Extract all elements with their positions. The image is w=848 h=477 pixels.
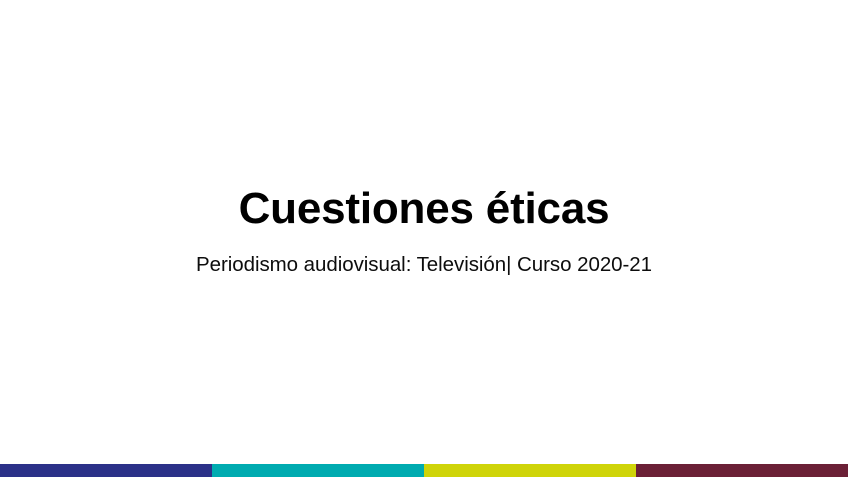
footer-bar-segment-indigo [0,464,212,477]
footer-bar-segment-maroon [636,464,848,477]
page-title: Cuestiones éticas [0,183,848,235]
page-subtitle: Periodismo audiovisual: Televisión| Curs… [0,252,848,278]
footer-color-bar [0,464,848,477]
subtitle-block: Periodismo audiovisual: Televisión| Curs… [0,252,848,278]
title-block: Cuestiones éticas [0,183,848,235]
footer-bar-segment-teal [212,464,424,477]
slide-content-area: Cuestiones éticas Periodismo audiovisual… [0,0,848,464]
footer-bar-segment-yellow [424,464,636,477]
presentation-slide: Cuestiones éticas Periodismo audiovisual… [0,0,848,477]
